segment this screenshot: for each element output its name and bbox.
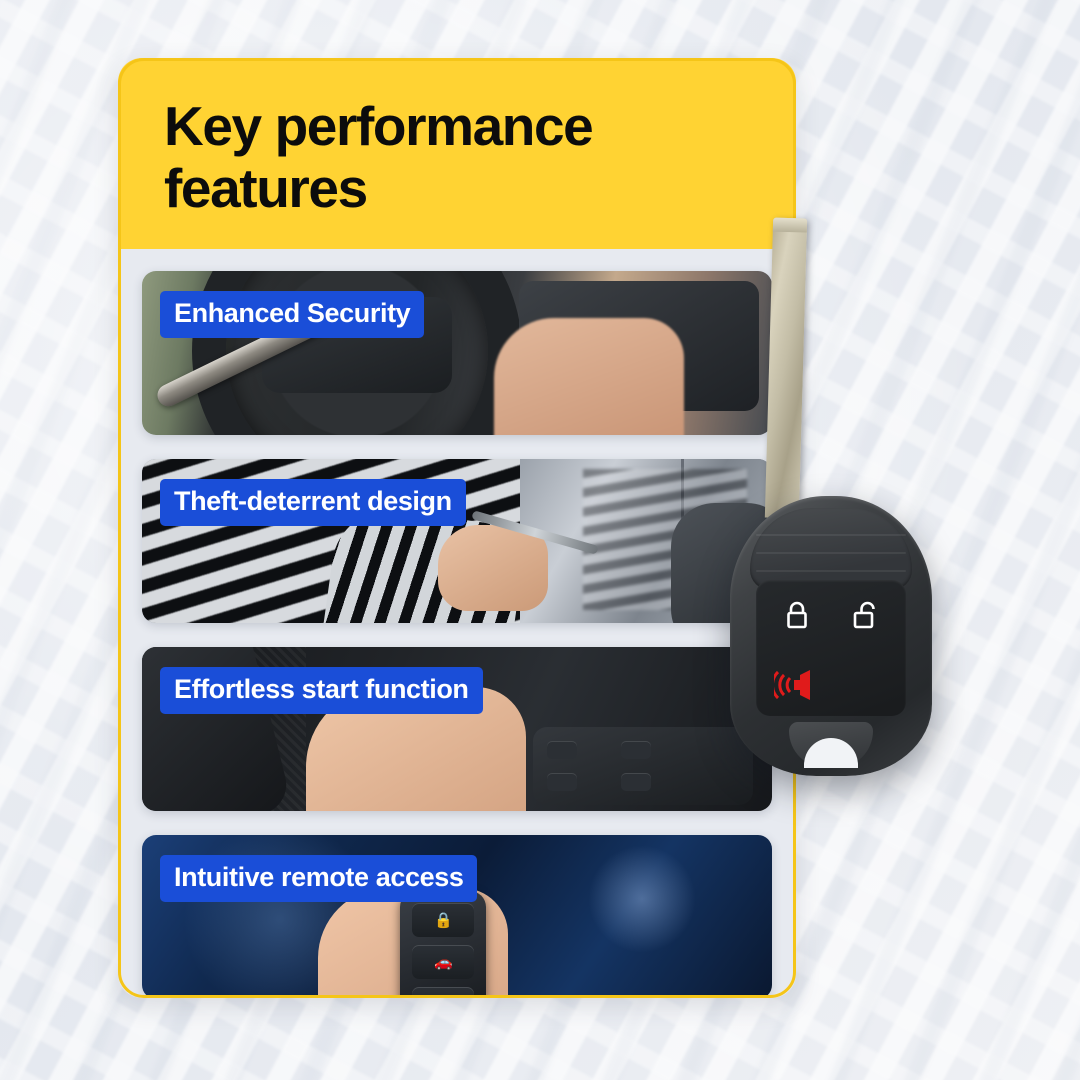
key-blade [765,218,807,519]
feature-label-badge: Effortless start function [160,667,483,714]
feature-label-badge: Enhanced Security [160,291,424,338]
key-fob-button-pad [756,580,906,716]
key-fob-shell [730,496,932,776]
unlock-button[interactable] [834,588,896,644]
padlock-open-icon [852,601,878,631]
feature-label-badge: Intuitive remote access [160,855,477,902]
shell-seam-line [756,570,906,572]
key-fob-product-image [722,218,940,788]
feature-label-badge: Theft-deterrent design [160,479,466,526]
key-ring-slot [789,722,873,768]
lock-button[interactable] [766,588,828,644]
panic-alarm-button[interactable] [764,660,830,710]
key-ring-hole [804,738,858,768]
shell-seam-line [756,552,906,554]
horn-alarm-icon [774,670,820,700]
promo-graphic: Key performance features Enhanced Securi… [0,0,1080,1080]
shell-seam-line [756,534,906,536]
padlock-closed-icon [784,601,810,631]
